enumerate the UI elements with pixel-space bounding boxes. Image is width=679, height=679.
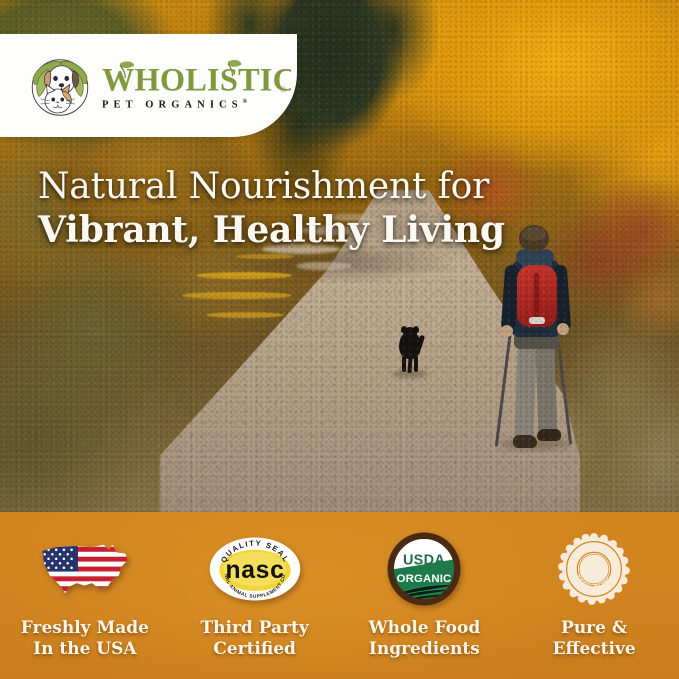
trust-badge-bar: Freshly Made In the USA QUALITY SEAL nas…: [0, 512, 679, 679]
dog-and-cat-in-leaf-circle-logo-icon: [22, 50, 98, 122]
hiker-leg: [514, 345, 536, 442]
badge-icon-wrap: QUALITY SEAL nasc NATIONAL ANIMAL SUPPLE…: [207, 530, 303, 608]
badge-freshly-made-usa[interactable]: Freshly Made In the USA: [0, 512, 170, 679]
hiker-boot: [513, 435, 537, 448]
svg-text:★: ★: [571, 566, 577, 574]
badge-third-party-certified[interactable]: QUALITY SEAL nasc NATIONAL ANIMAL SUPPLE…: [170, 512, 340, 679]
backpack-buckle: [529, 317, 545, 324]
usa-flag-map-icon: [37, 536, 133, 602]
hiker-hand: [501, 325, 513, 337]
badge-label: Freshly Made In the USA: [21, 618, 149, 659]
puddle: [296, 262, 352, 270]
svg-text:WHOLISTIC: WHOLISTIC: [102, 63, 291, 96]
hiker-hand: [557, 323, 569, 335]
hiker: [489, 225, 585, 460]
badge-pure-effective[interactable]: 100% PURE 100% PURE ★ ★ Pure & Effective: [509, 512, 679, 679]
dog-ear: [401, 326, 407, 333]
hiker-boot: [537, 429, 561, 441]
brand-name-icon: WHOLISTIC ®: [102, 60, 291, 96]
badge-label: Third Party Certified: [200, 618, 308, 659]
svg-text:ORGANIC: ORGANIC: [397, 573, 452, 585]
dog-leg: [414, 356, 418, 372]
svg-text:®: ®: [280, 86, 286, 95]
headline-line-2: Vibrant, Healthy Living: [38, 210, 558, 250]
dog-leg: [402, 356, 406, 372]
badge-whole-food-ingredients[interactable]: USDA ORGANIC Whole Food Ingredients: [340, 512, 510, 679]
badge-icon-wrap: [37, 530, 133, 608]
leaf-streak: [206, 312, 284, 318]
brand-tagline: PET ORGANICS®: [102, 99, 291, 111]
hero-headline: Natural Nourishment for Vibrant, Healthy…: [38, 168, 558, 250]
svg-text:nasc: nasc: [225, 557, 284, 584]
dog-leg: [407, 357, 412, 373]
brand-wordmark: WHOLISTIC ® PET ORGANICS®: [102, 60, 291, 111]
leaf-streak: [236, 254, 294, 259]
registered-mark: ®: [243, 99, 247, 105]
backpack-strap: [534, 273, 539, 321]
badge-label: Pure & Effective: [553, 618, 636, 659]
brand-logo-card[interactable]: WHOLISTIC ® PET ORGANICS®: [0, 34, 297, 137]
leaf-streak: [182, 292, 292, 299]
hundred-percent-pure-leaf-badge-icon: 100% PURE 100% PURE ★ ★: [556, 531, 632, 607]
leaf-streak: [196, 272, 292, 279]
trekking-pole: [495, 329, 512, 446]
badge-icon-wrap: USDA ORGANIC: [386, 530, 462, 608]
hiker-leg: [535, 345, 557, 442]
headline-line-1: Natural Nourishment for: [38, 168, 558, 206]
black-dog: [395, 327, 425, 375]
svg-text:USDA: USDA: [403, 552, 445, 568]
svg-text:★: ★: [611, 566, 617, 574]
brand-tagline-text: PET ORGANICS: [102, 100, 243, 111]
badge-label: Whole Food Ingredients: [369, 618, 481, 659]
nasc-quality-seal-icon: QUALITY SEAL nasc NATIONAL ANIMAL SUPPLE…: [207, 534, 303, 604]
badge-icon-wrap: 100% PURE 100% PURE ★ ★: [556, 530, 632, 608]
dog-ear: [413, 326, 419, 333]
promotional-banner: WHOLISTIC ® PET ORGANICS® Natural Nouris…: [0, 0, 679, 679]
usda-organic-seal-icon: USDA ORGANIC: [386, 531, 462, 607]
